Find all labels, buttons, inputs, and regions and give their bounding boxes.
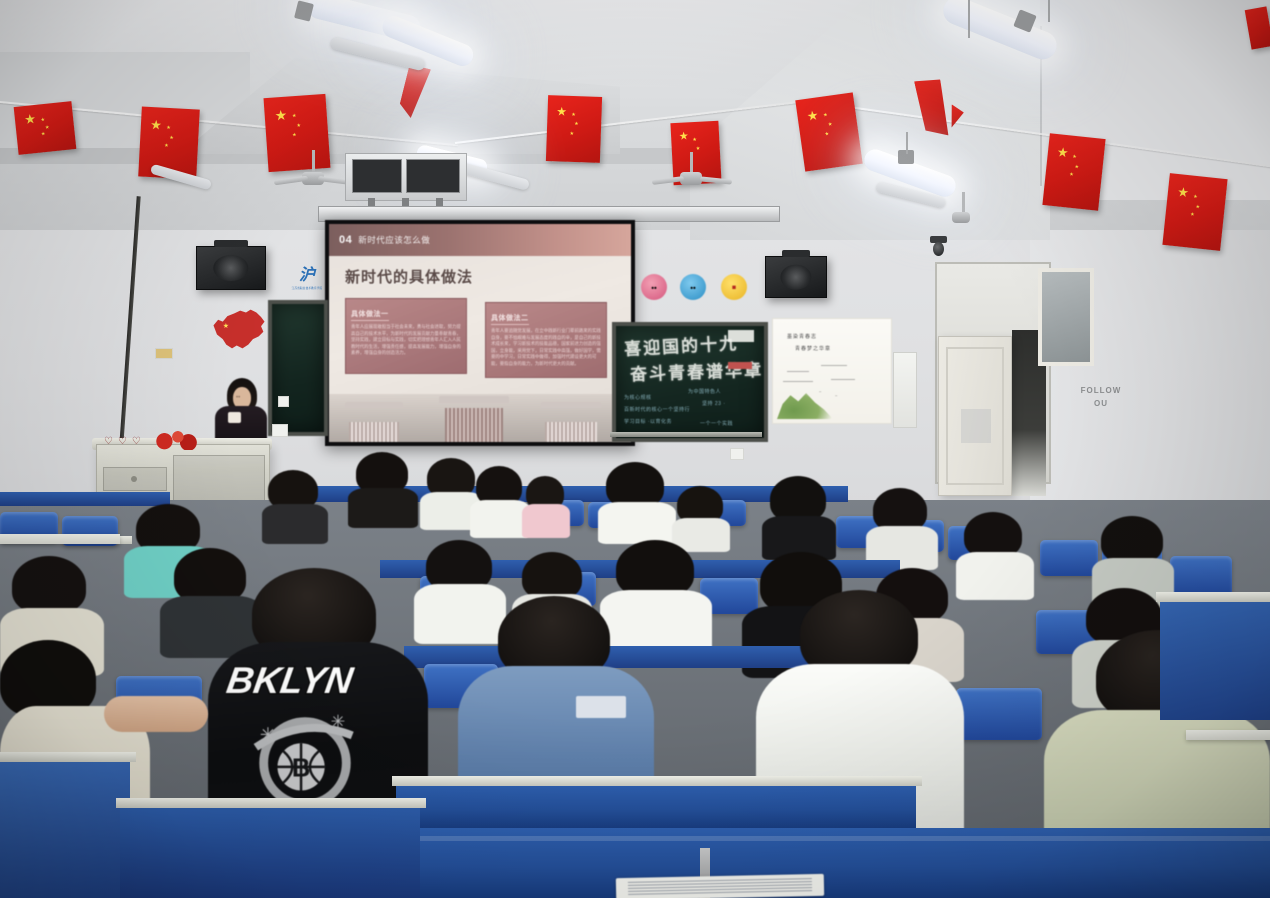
student-torso bbox=[470, 500, 530, 538]
wall-switch-plate[interactable] bbox=[155, 348, 173, 359]
flag-small-star: ★ bbox=[292, 114, 297, 119]
flag-small-star: ★ bbox=[292, 133, 297, 138]
desk-edge-mid-left bbox=[116, 798, 426, 808]
wall-outlet[interactable] bbox=[272, 424, 288, 437]
blackboard-right: 喜迎国的十九 奋斗青春谱华章 为核心规核 百新时代的核心一个坚持行 学习目标 ·… bbox=[612, 322, 768, 442]
blackboard-headline-1: 喜迎国的十九 bbox=[623, 329, 738, 360]
ceiling-fan-rod bbox=[690, 152, 693, 174]
speaker-bracket bbox=[782, 250, 810, 257]
scroll-bird: ~ bbox=[835, 393, 837, 398]
chinese-flag: ★ ★ ★ ★ bbox=[14, 101, 77, 155]
desk-edge-near bbox=[392, 776, 922, 786]
chinese-flag: ★ ★ ★ ★ bbox=[1162, 173, 1227, 251]
slide-text-box-two: 具体做法二 青年人要追随党发展，在立中践新行业门辈前路来的实践自身，要不怕艰难与… bbox=[485, 302, 607, 378]
slide-box-two-body: 青年人要追随党发展，在立中践新行业门辈前路来的实践自身，要不怕艰难与发展态度的践… bbox=[491, 328, 601, 368]
slide-box-one-body: 青年人应展现敢担当于社会未来，勇与社会进取，努力提高自己的技术水平，为新时代的发… bbox=[351, 324, 461, 357]
flag-big-star: ★ bbox=[24, 112, 37, 126]
desk-edge-bottom-left bbox=[0, 752, 136, 762]
blackboard-left bbox=[268, 300, 328, 436]
blackboard-note: 一个一个实践 bbox=[700, 420, 733, 427]
pillar-text-line2: OU bbox=[1078, 398, 1124, 411]
jacket-star: ✳ bbox=[260, 724, 276, 746]
blackboard-note: 学习目标 ·以育化务 bbox=[624, 418, 672, 425]
printed-handout bbox=[616, 874, 824, 898]
student bbox=[262, 470, 328, 538]
flag-small-star: ★ bbox=[569, 131, 574, 136]
chinese-flag: ★ ★ ★ ★ bbox=[795, 92, 862, 171]
scroll-cloud bbox=[787, 371, 809, 372]
handout-text-lines bbox=[628, 878, 811, 897]
building-colonnade bbox=[545, 422, 597, 442]
flag-big-star: ★ bbox=[679, 132, 689, 144]
cage-opening bbox=[406, 159, 460, 193]
student-hair bbox=[522, 552, 582, 600]
student-hair bbox=[12, 556, 86, 614]
scroll-calligraphy-line1: 墨染青春志 bbox=[787, 333, 857, 342]
ceiling-fan-rod bbox=[962, 192, 965, 214]
student bbox=[470, 466, 530, 530]
landscape-scroll-art: 墨染青春志 青春梦之华章 ~ ~ bbox=[772, 318, 892, 424]
student bbox=[866, 488, 938, 560]
student bbox=[522, 476, 570, 534]
desktop-surface-right bbox=[1186, 730, 1270, 740]
flag-small-star: ★ bbox=[696, 147, 701, 152]
flag-big-star: ★ bbox=[556, 105, 567, 117]
flag-small-star: ★ bbox=[824, 132, 829, 138]
presentation-slide: 04 新时代应该怎么做 新时代的具体做法 具体做法一 青年人应展现敢担当于社会未… bbox=[329, 224, 631, 442]
flag-big-star: ★ bbox=[1177, 185, 1190, 199]
slide-section-number: 04 bbox=[339, 234, 352, 246]
scroll-cloud bbox=[783, 381, 813, 382]
chair-back bbox=[1040, 540, 1098, 576]
flag-small-star: ★ bbox=[1193, 194, 1198, 199]
blackboard-note: 为核心规核 bbox=[624, 394, 652, 401]
classroom-door[interactable] bbox=[938, 336, 1012, 496]
light-suspension-rod bbox=[1048, 0, 1050, 22]
yellow-mascot-decal: ■ bbox=[721, 274, 747, 300]
blue-mascot-decal: •• bbox=[680, 274, 706, 300]
chinese-flag: ★ ★ ★ ★ bbox=[1042, 133, 1105, 210]
building-roof bbox=[439, 396, 509, 403]
presenter-shirt-graphic bbox=[228, 412, 241, 423]
light-suspension-rod bbox=[906, 132, 908, 154]
flag-small-star: ★ bbox=[41, 118, 46, 123]
chinese-flag: ★ ★ ★ ★ bbox=[263, 94, 330, 172]
flower-bouquet bbox=[150, 428, 198, 450]
map-star: ★ bbox=[223, 322, 229, 330]
student-torso bbox=[598, 502, 676, 544]
wall-outlet[interactable] bbox=[278, 396, 289, 407]
student-torso bbox=[956, 552, 1034, 600]
flag-small-star: ★ bbox=[571, 113, 576, 118]
flag-big-star: ★ bbox=[1056, 145, 1069, 159]
slide-main-title: 新时代的具体做法 bbox=[345, 266, 473, 287]
mascot-face: •• bbox=[651, 283, 657, 292]
student-torso bbox=[522, 504, 570, 538]
scroll-bird: ~ bbox=[819, 389, 821, 394]
speaker-bracket bbox=[214, 240, 248, 247]
student-torso bbox=[348, 488, 418, 528]
flag-small-star: ★ bbox=[164, 144, 169, 149]
jacket-star: ✳ bbox=[331, 712, 346, 732]
projection-screen: 04 新时代应该怎么做 新时代的具体做法 具体做法一 青年人应展现敢担当于社会未… bbox=[325, 220, 635, 446]
flag-small-star: ★ bbox=[296, 124, 301, 129]
wall-outlet[interactable] bbox=[730, 448, 744, 460]
flag-big-star: ★ bbox=[150, 118, 162, 132]
student-arm-left bbox=[104, 696, 208, 748]
slide-header-band: 04 新时代应该怎么做 bbox=[329, 224, 631, 256]
blackboard-note: 为中国特色人 bbox=[688, 388, 721, 395]
security-camera bbox=[930, 236, 947, 258]
slide-box-one-label: 具体做法一 bbox=[351, 309, 389, 321]
door-smudge bbox=[961, 409, 991, 443]
flag-small-star: ★ bbox=[828, 123, 833, 129]
blackboard-note: 百新时代的核心一个坚持行 bbox=[624, 406, 690, 413]
mascot-face: ■ bbox=[732, 284, 736, 291]
transom-window bbox=[1038, 268, 1094, 366]
projector-ceiling-cage bbox=[345, 153, 467, 201]
building-roof bbox=[345, 402, 403, 408]
desk-panel-right bbox=[1160, 600, 1270, 720]
building-colonnade bbox=[349, 422, 399, 442]
forearm bbox=[104, 696, 208, 732]
flag-small-star: ★ bbox=[823, 113, 828, 119]
school-logo-mark: 沪 bbox=[288, 268, 326, 284]
flag-small-star: ★ bbox=[1074, 165, 1079, 170]
desk-bottom-left-panel bbox=[0, 760, 130, 898]
pink-mascot-decal: •• bbox=[641, 274, 667, 300]
student bbox=[762, 476, 836, 550]
slide-building-graphic bbox=[329, 394, 631, 442]
scroll-calligraphy-line2: 青春梦之华章 bbox=[795, 345, 865, 354]
flag-big-star: ★ bbox=[806, 108, 819, 122]
student-torso bbox=[262, 504, 328, 544]
wall-speaker-right bbox=[765, 256, 827, 298]
flag-small-star: ★ bbox=[166, 126, 171, 131]
building-center-tower bbox=[445, 408, 503, 442]
jacket-text: BKLYN bbox=[226, 659, 357, 701]
flag-small-star: ★ bbox=[1190, 213, 1195, 218]
heart-decorations: ♡♡♡ bbox=[104, 436, 146, 447]
desk-edge-right bbox=[1156, 592, 1270, 602]
student bbox=[598, 462, 676, 536]
mascot-face: •• bbox=[690, 283, 696, 292]
slide-text-box-one: 具体做法一 青年人应展现敢担当于社会未来，勇与社会进取，努力提高自己的技术水平，… bbox=[345, 298, 467, 374]
slide-box-two-label: 具体做法二 bbox=[491, 313, 529, 325]
jacket-logo-letter: B bbox=[292, 755, 310, 783]
student bbox=[956, 512, 1034, 590]
desk-front-row-near bbox=[396, 784, 916, 830]
podium-drawer-knob[interactable] bbox=[131, 476, 137, 482]
scroll-mountain bbox=[777, 385, 833, 419]
student bbox=[672, 486, 730, 544]
desktop-surface-left bbox=[0, 534, 120, 544]
speaker-cone bbox=[213, 255, 248, 281]
blackboard-note: 坚持 23 · bbox=[702, 400, 726, 407]
school-logo: 沪 江苏省职业技术教育学院 bbox=[288, 268, 326, 298]
small-whiteboard bbox=[893, 352, 917, 428]
light-suspension-rod bbox=[968, 0, 970, 38]
wall-speaker-left bbox=[196, 246, 266, 290]
ceiling-fan-rod bbox=[312, 150, 315, 174]
flag-big-star: ★ bbox=[274, 108, 288, 123]
student-in-bklyn-jacket: BKLYN B ✳ ✳ bbox=[208, 568, 428, 836]
chair-back bbox=[956, 688, 1042, 740]
flag-small-star: ★ bbox=[1072, 154, 1077, 159]
flag-small-star: ★ bbox=[169, 136, 174, 141]
flag-small-star: ★ bbox=[1069, 173, 1074, 178]
flag-small-star: ★ bbox=[574, 122, 579, 127]
school-logo-name: 江苏省职业技术教育学院 bbox=[288, 286, 326, 290]
student bbox=[348, 452, 418, 522]
pillar-text-line1: FOLLOW bbox=[1078, 385, 1124, 398]
flag-small-star: ★ bbox=[41, 132, 46, 137]
blackboard-sticker bbox=[728, 362, 752, 369]
scroll-cloud bbox=[831, 379, 855, 380]
flag-small-star: ★ bbox=[45, 126, 50, 131]
chinese-flag: ★ ★ ★ ★ bbox=[546, 95, 602, 163]
chalk-tray bbox=[610, 432, 762, 437]
flag-small-star: ★ bbox=[1195, 205, 1200, 210]
presenter-face-shadow: •• bbox=[236, 395, 240, 401]
classroom-photo: ★ ★ ★ ★ ★ ★ ★ ★ ★ ★ ★ ★ ★ ★ ★ ★ ★ ★ ★ ★ … bbox=[0, 0, 1270, 898]
student bbox=[1092, 516, 1174, 598]
cage-opening bbox=[352, 159, 402, 193]
jacket-collar-tag bbox=[576, 696, 626, 718]
scroll-cloud bbox=[821, 365, 847, 366]
blackboard-paper-note bbox=[728, 330, 754, 342]
desk-panel-mid-left bbox=[120, 806, 420, 898]
blackboard-headline-2: 奋斗青春谱华章 bbox=[630, 356, 764, 386]
student-hair bbox=[1101, 516, 1163, 564]
building-roof bbox=[541, 402, 601, 408]
jacket-bklyn-graffiti: BKLYN bbox=[226, 652, 412, 708]
camera-dome-lens bbox=[933, 242, 944, 256]
flag-small-star: ★ bbox=[692, 138, 697, 143]
slide-section-title: 新时代应该怎么做 bbox=[358, 234, 430, 246]
ceiling-fan-motor bbox=[952, 212, 970, 223]
speaker-cone bbox=[780, 265, 811, 290]
pillar-wall-text: FOLLOW OU bbox=[1078, 385, 1124, 411]
